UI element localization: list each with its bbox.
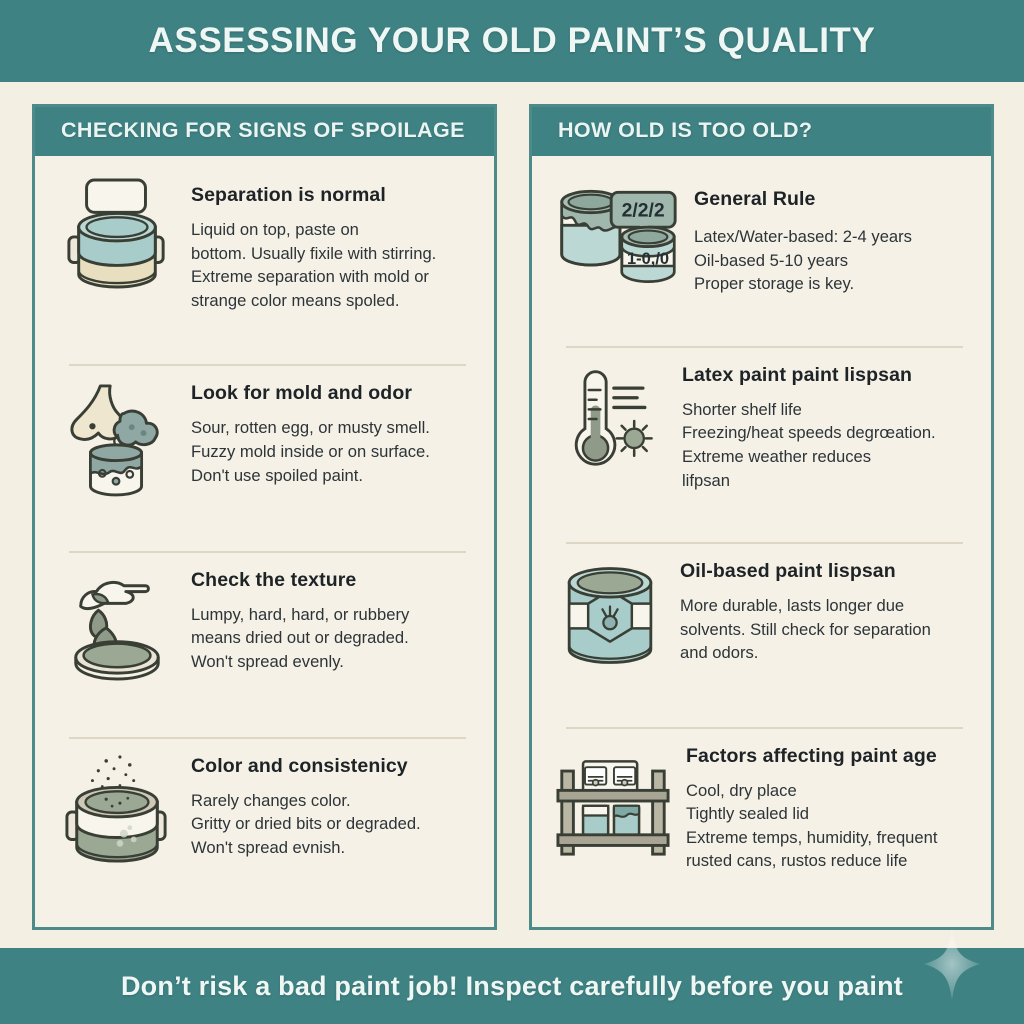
body-line: Tightly sealed lid: [686, 802, 969, 826]
column-checking-for-signs-of-spoilage: CHECKING FOR SIGNS OF SPOILAGE: [32, 104, 497, 930]
list-item-body: Lumpy, hard, hard, or rubbery means drie…: [191, 603, 472, 674]
open-can-gritty-paint-icon: [57, 751, 177, 871]
infographic-page: ASSESSING YOUR OLD PAINT’S QUALITY CHECK…: [0, 0, 1024, 1024]
list-item-body: Shorter shelf life Freezing/heat speeds …: [682, 398, 969, 492]
body-line: and odors.: [680, 641, 969, 665]
thermometer-sun-icon: [554, 360, 668, 480]
list-item-text: Separation is normal Liquid on top, past…: [191, 174, 472, 312]
list-item-title: Separation is normal: [191, 184, 472, 207]
body-line: Extreme separation with mold or: [191, 265, 472, 289]
oil-paint-drum-icon: [554, 556, 666, 676]
body-line: Won't spread evnish.: [191, 836, 472, 860]
list-item-text: Oil-based paint lispsan More durable, la…: [680, 556, 969, 665]
body-line: Sour, rotten egg, or musty smell.: [191, 416, 472, 440]
body-line: More durable, lasts longer due: [680, 594, 969, 618]
list-item: Oil-based paint lispsan More durable, la…: [548, 542, 973, 726]
list-item-title: Latex paint paint lispsan: [682, 364, 969, 387]
page-title: ASSESSING YOUR OLD PAINT’S QUALITY: [149, 21, 876, 61]
body-line: rusted cans, rustos reduce life: [686, 849, 969, 873]
column-header-label: CHECKING FOR SIGNS OF SPOILAGE: [61, 118, 494, 143]
paint-can-separation-icon: [57, 174, 177, 294]
footer-tagline: Don’t risk a bad paint job! Inspect care…: [121, 971, 903, 1002]
list-item-body: More durable, lasts longer due solvents.…: [680, 594, 969, 665]
body-line: Rarely changes color.: [191, 789, 472, 813]
bubble-date-label: 2/2/2: [622, 200, 665, 222]
list-item-body: Sour, rotten egg, or musty smell. Fuzzy …: [191, 416, 472, 487]
body-line: Liquid on top, paste on: [191, 218, 472, 242]
body-line: Oil-based 5-10 years: [694, 249, 969, 273]
list-item-text: Latex paint paint lispsan Shorter shelf …: [682, 360, 969, 492]
list-item-body: Latex/Water-based: 2-4 years Oil-based 5…: [694, 225, 969, 296]
list-item-text: Factors affecting paint age Cool, dry pl…: [686, 741, 969, 873]
list-item: Latex paint paint lispsan Shorter shelf …: [548, 346, 973, 542]
list-item-title: Oil-based paint lispsan: [680, 560, 969, 583]
body-line: Gritty or dried bits or degraded.: [191, 812, 472, 836]
body-line: Freezing/heat speeds degrœation.: [682, 421, 969, 445]
nose-smelling-mold-can-icon: [57, 378, 177, 498]
column-header-right: HOW OLD IS TOO OLD?: [532, 107, 991, 156]
list-item: Factors affecting paint age Cool, dry pl…: [548, 727, 973, 923]
list-item: Color and consistenicy Rarely changes co…: [51, 737, 476, 923]
body-line: means dried out or degraded.: [191, 626, 472, 650]
list-item: Separation is normal Liquid on top, past…: [51, 160, 476, 364]
can-date-label: 1-0,/0: [627, 250, 669, 268]
body-line: Cool, dry place: [686, 779, 969, 803]
list-item-body: Liquid on top, paste on bottom. Usually …: [191, 218, 472, 312]
list-item-text: General Rule Latex/Water-based: 2-4 year…: [694, 174, 969, 296]
column-how-old-is-too-old: HOW OLD IS TOO OLD? 2/2/2: [529, 104, 994, 930]
body-line: solvents. Still check for separation: [680, 618, 969, 642]
hand-checking-texture-icon: [57, 565, 177, 685]
body-line: Fuzzy mold inside or on surface.: [191, 440, 472, 464]
two-paint-cans-dates-icon: 2/2/2 1-0,/0: [554, 174, 680, 294]
sparkle-icon: [924, 928, 980, 1000]
list-item-body: Cool, dry place Tightly sealed lid Extre…: [686, 779, 969, 873]
body-line: lifpsan: [682, 469, 969, 493]
body-line: Lumpy, hard, hard, or rubbery: [191, 603, 472, 627]
list-item-text: Check the texture Lumpy, hard, hard, or …: [191, 565, 472, 674]
list-item-text: Look for mold and odor Sour, rotten egg,…: [191, 378, 472, 487]
column-header-label: HOW OLD IS TOO OLD?: [558, 118, 991, 143]
body-line: bottom. Usually fixile with stirring.: [191, 242, 472, 266]
page-footer: Don’t risk a bad paint job! Inspect care…: [0, 948, 1024, 1024]
body-line: Extreme temps, humidity, frequent: [686, 826, 969, 850]
column-body-right: 2/2/2 1-0,/0 General Rule Latex/Water: [532, 156, 991, 927]
list-item-title: Color and consistenicy: [191, 755, 472, 778]
list-item-title: Look for mold and odor: [191, 382, 472, 405]
list-item-title: General Rule: [694, 188, 969, 211]
list-item: Look for mold and odor Sour, rotten egg,…: [51, 364, 476, 550]
body-line: Latex/Water-based: 2-4 years: [694, 225, 969, 249]
list-item-title: Factors affecting paint age: [686, 745, 969, 768]
body-line: Proper storage is key.: [694, 272, 969, 296]
page-header: ASSESSING YOUR OLD PAINT’S QUALITY: [0, 0, 1024, 82]
column-body-left: Separation is normal Liquid on top, past…: [35, 156, 494, 927]
columns-container: CHECKING FOR SIGNS OF SPOILAGE: [0, 82, 1024, 948]
list-item: Check the texture Lumpy, hard, hard, or …: [51, 551, 476, 737]
body-line: Extreme weather reduces: [682, 445, 969, 469]
body-line: strange color means spoled.: [191, 289, 472, 313]
storage-shelf-cans-icon: [554, 741, 672, 861]
column-header-left: CHECKING FOR SIGNS OF SPOILAGE: [35, 107, 494, 156]
list-item-body: Rarely changes color. Gritty or dried bi…: [191, 789, 472, 860]
list-item-title: Check the texture: [191, 569, 472, 592]
list-item: 2/2/2 1-0,/0 General Rule Latex/Water: [548, 160, 973, 346]
body-line: Don't use spoiled paint.: [191, 464, 472, 488]
list-item-text: Color and consistenicy Rarely changes co…: [191, 751, 472, 860]
body-line: Won't spread evenly.: [191, 650, 472, 674]
body-line: Shorter shelf life: [682, 398, 969, 422]
